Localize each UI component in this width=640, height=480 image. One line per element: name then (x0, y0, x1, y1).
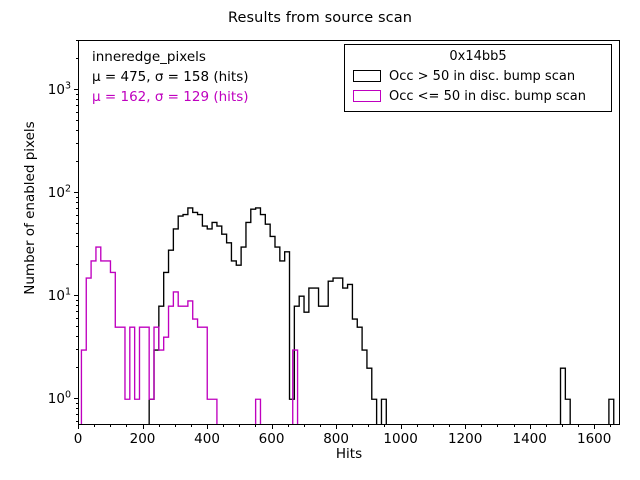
x-tick-label: 1600 (577, 431, 611, 447)
x-tick-minor (175, 425, 176, 427)
x-tick (530, 425, 531, 429)
x-tick-minor (352, 425, 353, 427)
x-tick-minor (110, 425, 111, 427)
x-tick-label: 1400 (512, 431, 546, 447)
legend-swatch-magenta (353, 90, 381, 102)
x-tick-label: 1200 (448, 431, 482, 447)
x-tick-minor (417, 425, 418, 427)
x-tick-label: 0 (74, 431, 83, 447)
x-tick-label: 200 (130, 431, 156, 447)
x-tick-minor (497, 425, 498, 427)
figure-canvas: Results from source scan Number of enabl… (0, 0, 640, 480)
x-tick-minor (94, 425, 95, 427)
magenta-stats-label: μ = 162, σ = 129 (hits) (92, 88, 249, 108)
x-tick (143, 425, 144, 429)
dataset-name-label: inneredge_pixels (92, 48, 249, 68)
x-tick-label: 800 (323, 431, 349, 447)
x-tick-minor (159, 425, 160, 427)
legend-title: 0x14bb5 (351, 49, 605, 64)
stats-annotation: inneredge_pixels μ = 475, σ = 158 (hits)… (92, 48, 249, 108)
legend-item-occ-le-50: Occ <= 50 in disc. bump scan (351, 86, 605, 106)
legend-label-black: Occ > 50 in disc. bump scan (389, 69, 575, 84)
y-tick-label: 102 (48, 183, 71, 201)
x-tick (207, 425, 208, 429)
y-tick-label: 103 (48, 80, 71, 98)
x-tick-minor (288, 425, 289, 427)
x-tick-minor (610, 425, 611, 427)
x-tick-minor (384, 425, 385, 427)
x-tick-label: 400 (194, 431, 220, 447)
x-tick-minor (223, 425, 224, 427)
x-tick-label: 600 (259, 431, 285, 447)
x-tick-minor (368, 425, 369, 427)
y-tick-label: 100 (48, 389, 71, 407)
x-tick-label: 1000 (383, 431, 417, 447)
x-tick (594, 425, 595, 429)
x-tick (272, 425, 273, 429)
legend-box: 0x14bb5 Occ > 50 in disc. bump scan Occ … (344, 44, 612, 112)
x-tick-minor (126, 425, 127, 427)
y-tick-label: 101 (48, 286, 71, 304)
x-tick (465, 425, 466, 429)
x-tick-minor (546, 425, 547, 427)
x-tick-minor (449, 425, 450, 427)
histogram-series (81, 247, 297, 424)
x-tick-minor (255, 425, 256, 427)
x-tick (401, 425, 402, 429)
y-axis-ticks: 100101102103 (0, 40, 78, 425)
x-tick (336, 425, 337, 429)
x-tick-minor (562, 425, 563, 427)
x-tick-minor (481, 425, 482, 427)
x-tick-minor (239, 425, 240, 427)
x-tick-minor (433, 425, 434, 427)
x-tick-minor (304, 425, 305, 427)
legend-label-magenta: Occ <= 50 in disc. bump scan (389, 89, 586, 104)
x-tick-minor (578, 425, 579, 427)
black-stats-label: μ = 475, σ = 158 (hits) (92, 68, 249, 88)
histogram-series (149, 208, 614, 424)
x-axis-label: Hits (78, 446, 620, 462)
x-tick-minor (191, 425, 192, 427)
legend-swatch-black (353, 70, 381, 82)
legend-item-occ-gt-50: Occ > 50 in disc. bump scan (351, 66, 605, 86)
x-tick-minor (320, 425, 321, 427)
x-tick (78, 425, 79, 429)
page-title: Results from source scan (0, 10, 640, 26)
x-tick-minor (514, 425, 515, 427)
